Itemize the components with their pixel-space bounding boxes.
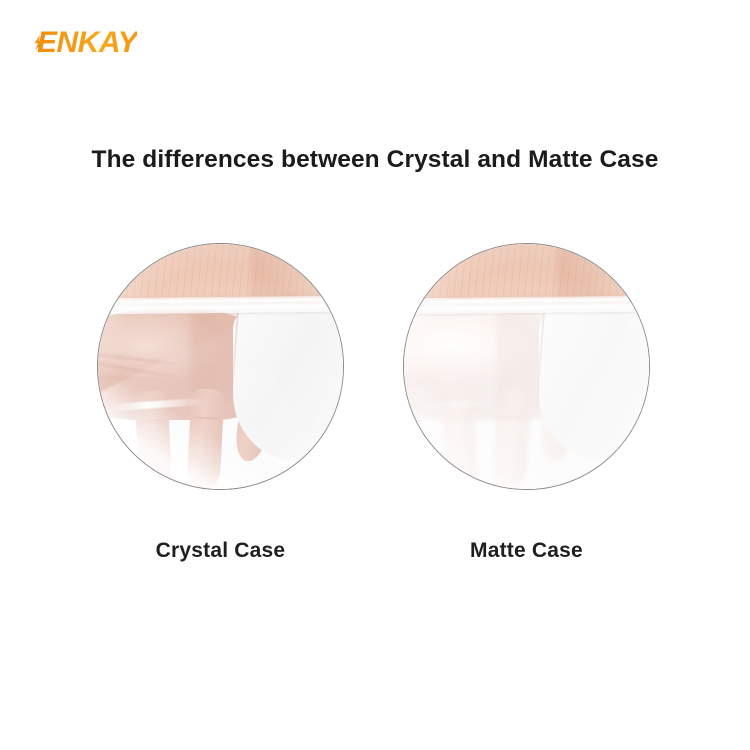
comparison-row: Crystal Case Matte Case (0, 243, 750, 493)
product-comparison-page: ENKAY The differences between Crystal an… (0, 0, 750, 750)
matte-case-photo (403, 243, 650, 490)
brand-name: ENKAY (33, 28, 137, 58)
brand-logo: ENKAY (33, 28, 137, 58)
edge-fade (98, 244, 343, 489)
caption-matte-case: Matte Case (403, 539, 650, 563)
caption-crystal-case: Crystal Case (97, 539, 344, 563)
crystal-case-photo (97, 243, 344, 490)
case-sample-crystal (97, 243, 344, 490)
hand-through-crystal-case-image (98, 244, 343, 489)
case-sample-matte (403, 243, 650, 490)
page-title: The differences between Crystal and Matt… (0, 146, 750, 174)
hand-through-matte-case-image (404, 244, 649, 489)
edge-fade (404, 244, 649, 489)
